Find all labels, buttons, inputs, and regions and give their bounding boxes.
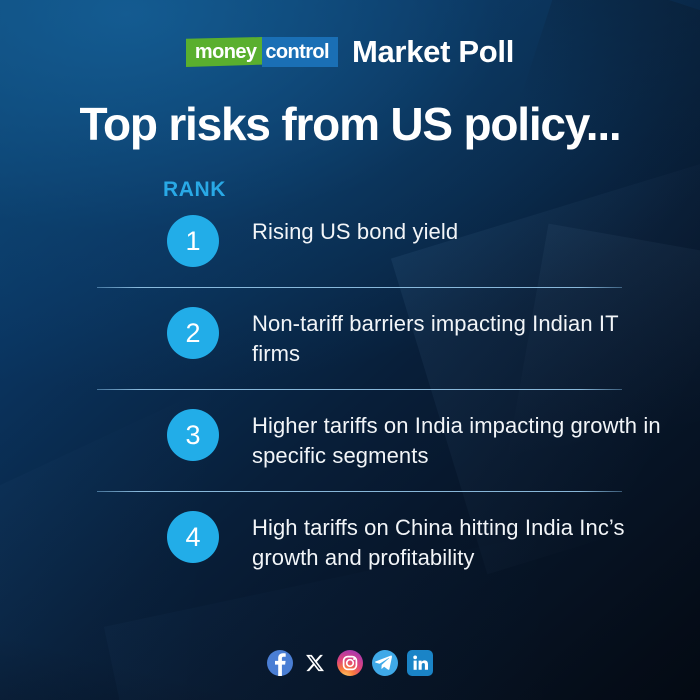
- list-item: 2 Non-tariff barriers impacting Indian I…: [0, 307, 700, 369]
- rank-column-label: RANK: [163, 178, 226, 202]
- risk-text: Higher tariffs on India impacting growth…: [219, 409, 672, 471]
- rank-badge: 4: [167, 511, 219, 563]
- telegram-icon[interactable]: [372, 650, 398, 676]
- risk-text: High tariffs on China hitting India Inc’…: [219, 511, 672, 573]
- social-links-bar: [0, 650, 700, 676]
- spacer: [0, 267, 700, 287]
- logo-money-text: money: [186, 37, 262, 67]
- logo-control-text: control: [262, 37, 338, 67]
- header: moneycontrol Market Poll: [0, 34, 700, 70]
- spacer: [0, 390, 700, 409]
- spacer: [0, 471, 700, 491]
- list-item: 3 Higher tariffs on India impacting grow…: [0, 409, 700, 471]
- header-title: Market Poll: [352, 34, 514, 70]
- risk-list: 1 Rising US bond yield 2 Non-tariff barr…: [0, 215, 700, 573]
- facebook-icon[interactable]: [267, 650, 293, 676]
- list-item: 1 Rising US bond yield: [0, 215, 700, 267]
- linkedin-icon[interactable]: [407, 650, 433, 676]
- rank-badge: 1: [167, 215, 219, 267]
- x-twitter-icon[interactable]: [302, 650, 328, 676]
- instagram-icon[interactable]: [337, 650, 363, 676]
- market-poll-infographic: moneycontrol Market Poll Top risks from …: [0, 0, 700, 700]
- spacer: [0, 288, 700, 307]
- moneycontrol-logo: moneycontrol: [186, 37, 338, 67]
- rank-badge: 2: [167, 307, 219, 359]
- page-title: Top risks from US policy...: [0, 97, 700, 151]
- list-item: 4 High tariffs on China hitting India In…: [0, 511, 700, 573]
- spacer: [0, 369, 700, 389]
- risk-text: Non-tariff barriers impacting Indian IT …: [219, 307, 672, 369]
- rank-badge: 3: [167, 409, 219, 461]
- risk-text: Rising US bond yield: [219, 215, 458, 247]
- spacer: [0, 492, 700, 511]
